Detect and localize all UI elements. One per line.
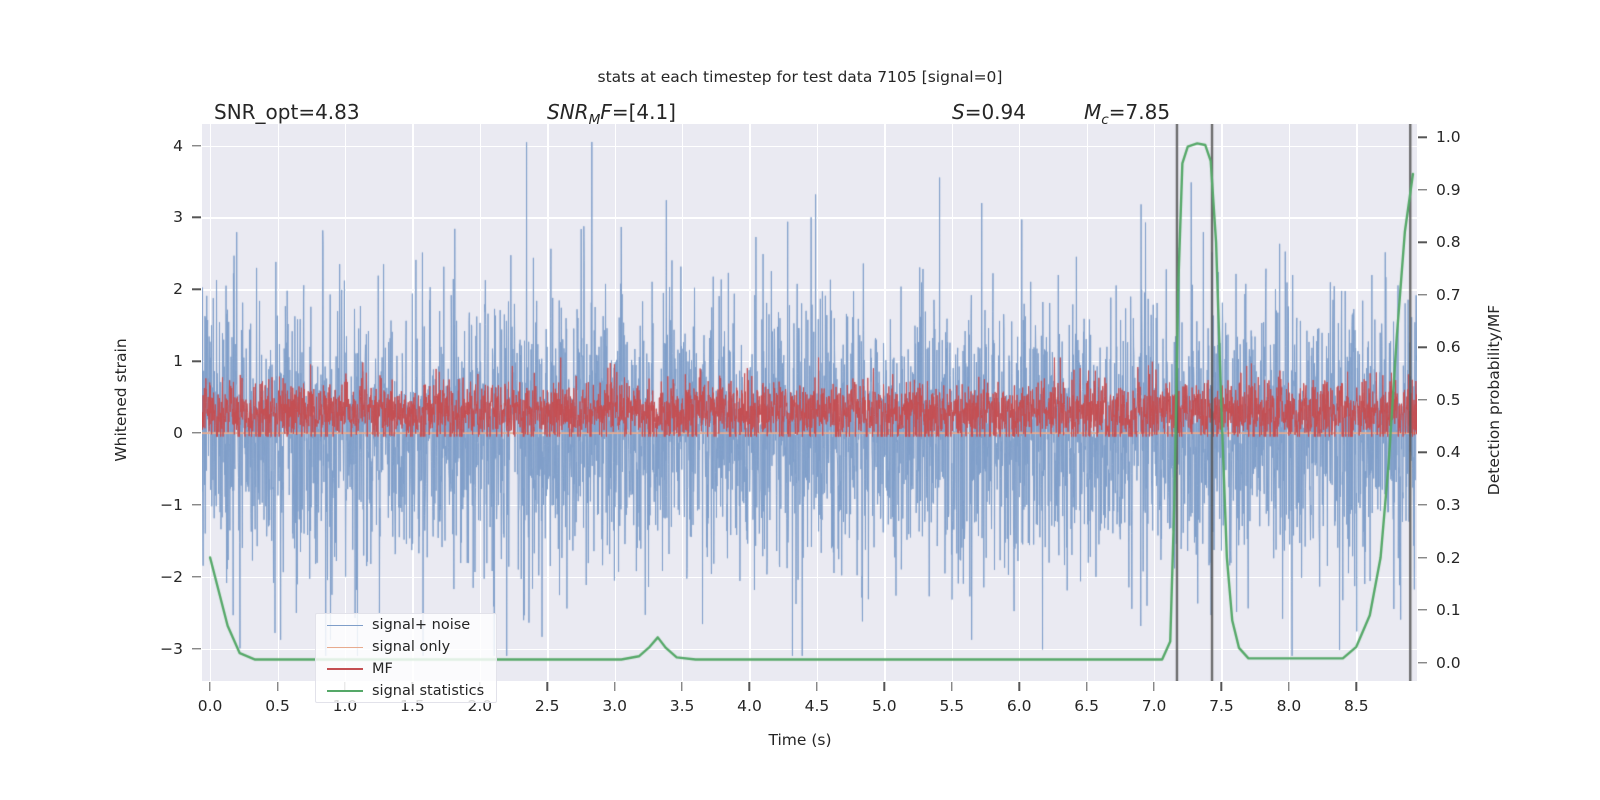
y-tick-mark-right [1418,347,1427,348]
y-tick-label-right: 0.5 [1436,391,1461,409]
legend-swatch-icon [327,668,363,670]
annotation-mc: Mc=7.85 [1084,100,1170,128]
y-tick-mark-left [192,360,201,361]
x-tick-label: 8.0 [1277,697,1302,715]
x-tick-label: 0.0 [198,697,223,715]
x-tick-mark [614,682,615,691]
y-tick-mark-right [1418,609,1427,610]
legend-box[interactable]: signal+ noisesignal onlyMFsignal statist… [315,613,497,703]
x-tick-mark [816,682,817,691]
x-tick-label: 3.5 [670,697,695,715]
y-tick-mark-left [192,432,201,433]
y-tick-mark-right [1418,662,1427,663]
legend-swatch-icon [327,690,363,692]
y-tick-mark-right [1418,136,1427,137]
y-tick-mark-right [1418,452,1427,453]
x-tick-mark [884,682,885,691]
y-tick-mark-left [192,289,201,290]
y-tick-label-right: 0.7 [1436,286,1461,304]
y-tick-label-right: 0.4 [1436,443,1461,461]
y-tick-label-left: 2 [173,280,183,298]
y-tick-mark-left [192,145,201,146]
legend-swatch-icon [327,625,363,626]
y-tick-label-left: 1 [173,352,183,370]
x-tick-mark [951,682,952,691]
x-tick-mark [1086,682,1087,691]
legend-entry-2[interactable]: MF [316,658,496,680]
y-tick-mark-right [1418,557,1427,558]
y-tick-label-right: 0.8 [1436,233,1461,251]
x-tick-label: 4.0 [737,697,762,715]
y-tick-mark-left [192,217,201,218]
y-tick-label-right: 0.3 [1436,496,1461,514]
x-tick-label: 6.0 [1007,697,1032,715]
x-tick-label: 2.5 [535,697,560,715]
x-tick-label: 4.5 [805,697,830,715]
y-tick-mark-left [192,648,201,649]
y-tick-label-right: 1.0 [1436,128,1461,146]
y-tick-mark-left [192,576,201,577]
y-tick-mark-right [1418,242,1427,243]
x-tick-mark [547,682,548,691]
annotation-s-stat: S=0.94 [952,100,1026,124]
y-tick-mark-right [1418,504,1427,505]
y-tick-label-left: −1 [160,496,183,514]
y-tick-label-left: 0 [173,424,183,442]
x-tick-mark [277,682,278,691]
x-tick-mark [1221,682,1222,691]
legend-label: MF [372,661,393,677]
legend-label: signal+ noise [372,617,470,633]
x-tick-label: 7.0 [1142,697,1167,715]
legend-entry-0[interactable]: signal+ noise [316,614,496,636]
legend-entry-1[interactable]: signal only [316,636,496,658]
x-tick-mark [1153,682,1154,691]
x-tick-mark [1018,682,1019,691]
x-tick-label: 0.5 [265,697,290,715]
x-tick-mark [209,682,210,691]
annotation-snr-opt: SNR_opt=4.83 [214,100,360,124]
x-tick-label: 8.5 [1344,697,1369,715]
x-tick-mark [1356,682,1357,691]
y-tick-mark-left [192,504,201,505]
x-tick-mark [1288,682,1289,691]
y-tick-label-left: −3 [160,640,183,658]
x-tick-label: 6.5 [1074,697,1099,715]
y-tick-label-left: 3 [173,208,183,226]
x-tick-mark [749,682,750,691]
y-tick-mark-right [1418,399,1427,400]
y-tick-mark-right [1418,189,1427,190]
x-axis-label: Time (s) [0,731,1600,749]
plot-title: stats at each timestep for test data 710… [0,68,1600,86]
y-tick-label-right: 0.1 [1436,601,1461,619]
x-tick-label: 5.0 [872,697,897,715]
y-tick-label-left: 4 [173,137,183,155]
x-tick-label: 5.5 [939,697,964,715]
x-tick-label: 3.0 [602,697,627,715]
figure-canvas: stats at each timestep for test data 710… [0,0,1600,800]
y-tick-label-right: 0.2 [1436,549,1461,567]
y-tick-label-right: 0.9 [1436,181,1461,199]
x-tick-label: 7.5 [1209,697,1234,715]
annotation-snr-mf: SNRMF=[4.1] [547,100,676,128]
legend-label: signal only [372,639,450,655]
y-axis-label-right: Detection probability/MF [1485,305,1503,495]
legend-entry-3[interactable]: signal statistics [316,680,496,702]
y-tick-label-right: 0.6 [1436,338,1461,356]
legend-swatch-icon [327,647,363,648]
y-tick-label-left: −2 [160,568,183,586]
x-tick-mark [681,682,682,691]
y-axis-label-left: Whitened strain [112,338,130,461]
plot-traces-canvas [202,124,1417,681]
y-tick-label-right: 0.0 [1436,654,1461,672]
plot-axes-area [202,124,1417,681]
legend-label: signal statistics [372,683,484,699]
y-tick-mark-right [1418,294,1427,295]
